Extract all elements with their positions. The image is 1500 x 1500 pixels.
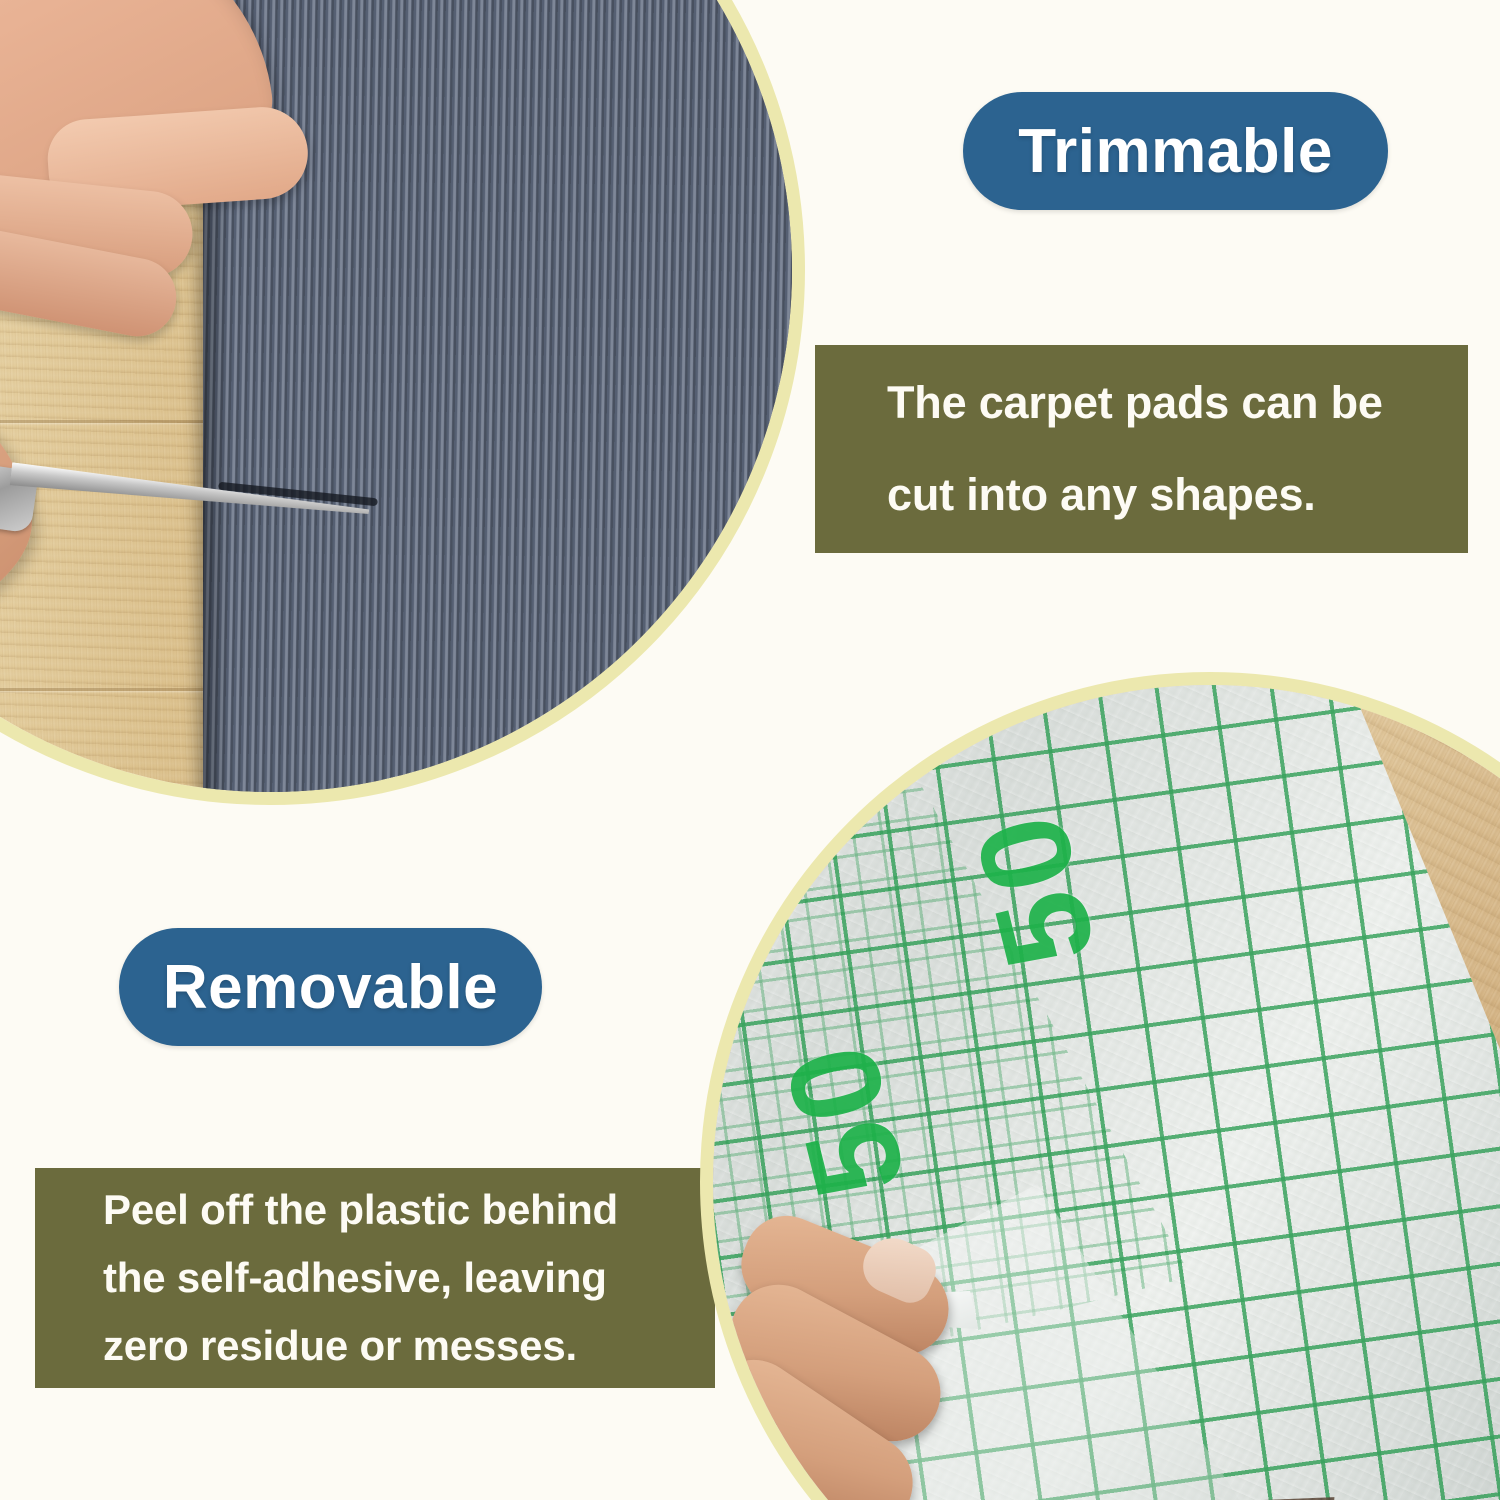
caption-line: Peel off the plastic behind <box>103 1176 697 1244</box>
badge-trimmable[interactable]: Trimmable <box>963 92 1388 210</box>
caption-line: The carpet pads can be <box>887 357 1448 449</box>
badge-label: Trimmable <box>1018 116 1333 187</box>
caption-panel-trimmable: The carpet pads can be cut into any shap… <box>815 345 1468 553</box>
caption-line: the self-adhesive, leaving <box>103 1244 697 1312</box>
scene-carpet-cutting <box>0 0 792 792</box>
photo-removable-liner-peel: 50 50 <box>700 672 1500 1500</box>
caption-line: zero residue or messes. <box>103 1312 697 1380</box>
caption-panel-removable: Peel off the plastic behind the self-adh… <box>35 1168 715 1388</box>
badge-label: Removable <box>163 952 498 1023</box>
caption-line: cut into any shapes. <box>887 449 1448 541</box>
scene-liner-peel: 50 50 <box>713 685 1500 1500</box>
photo-trimmable-carpet-cutting <box>0 0 805 805</box>
infographic-canvas: The carpet pads can be cut into any shap… <box>0 0 1500 1500</box>
badge-removable[interactable]: Removable <box>119 928 542 1046</box>
